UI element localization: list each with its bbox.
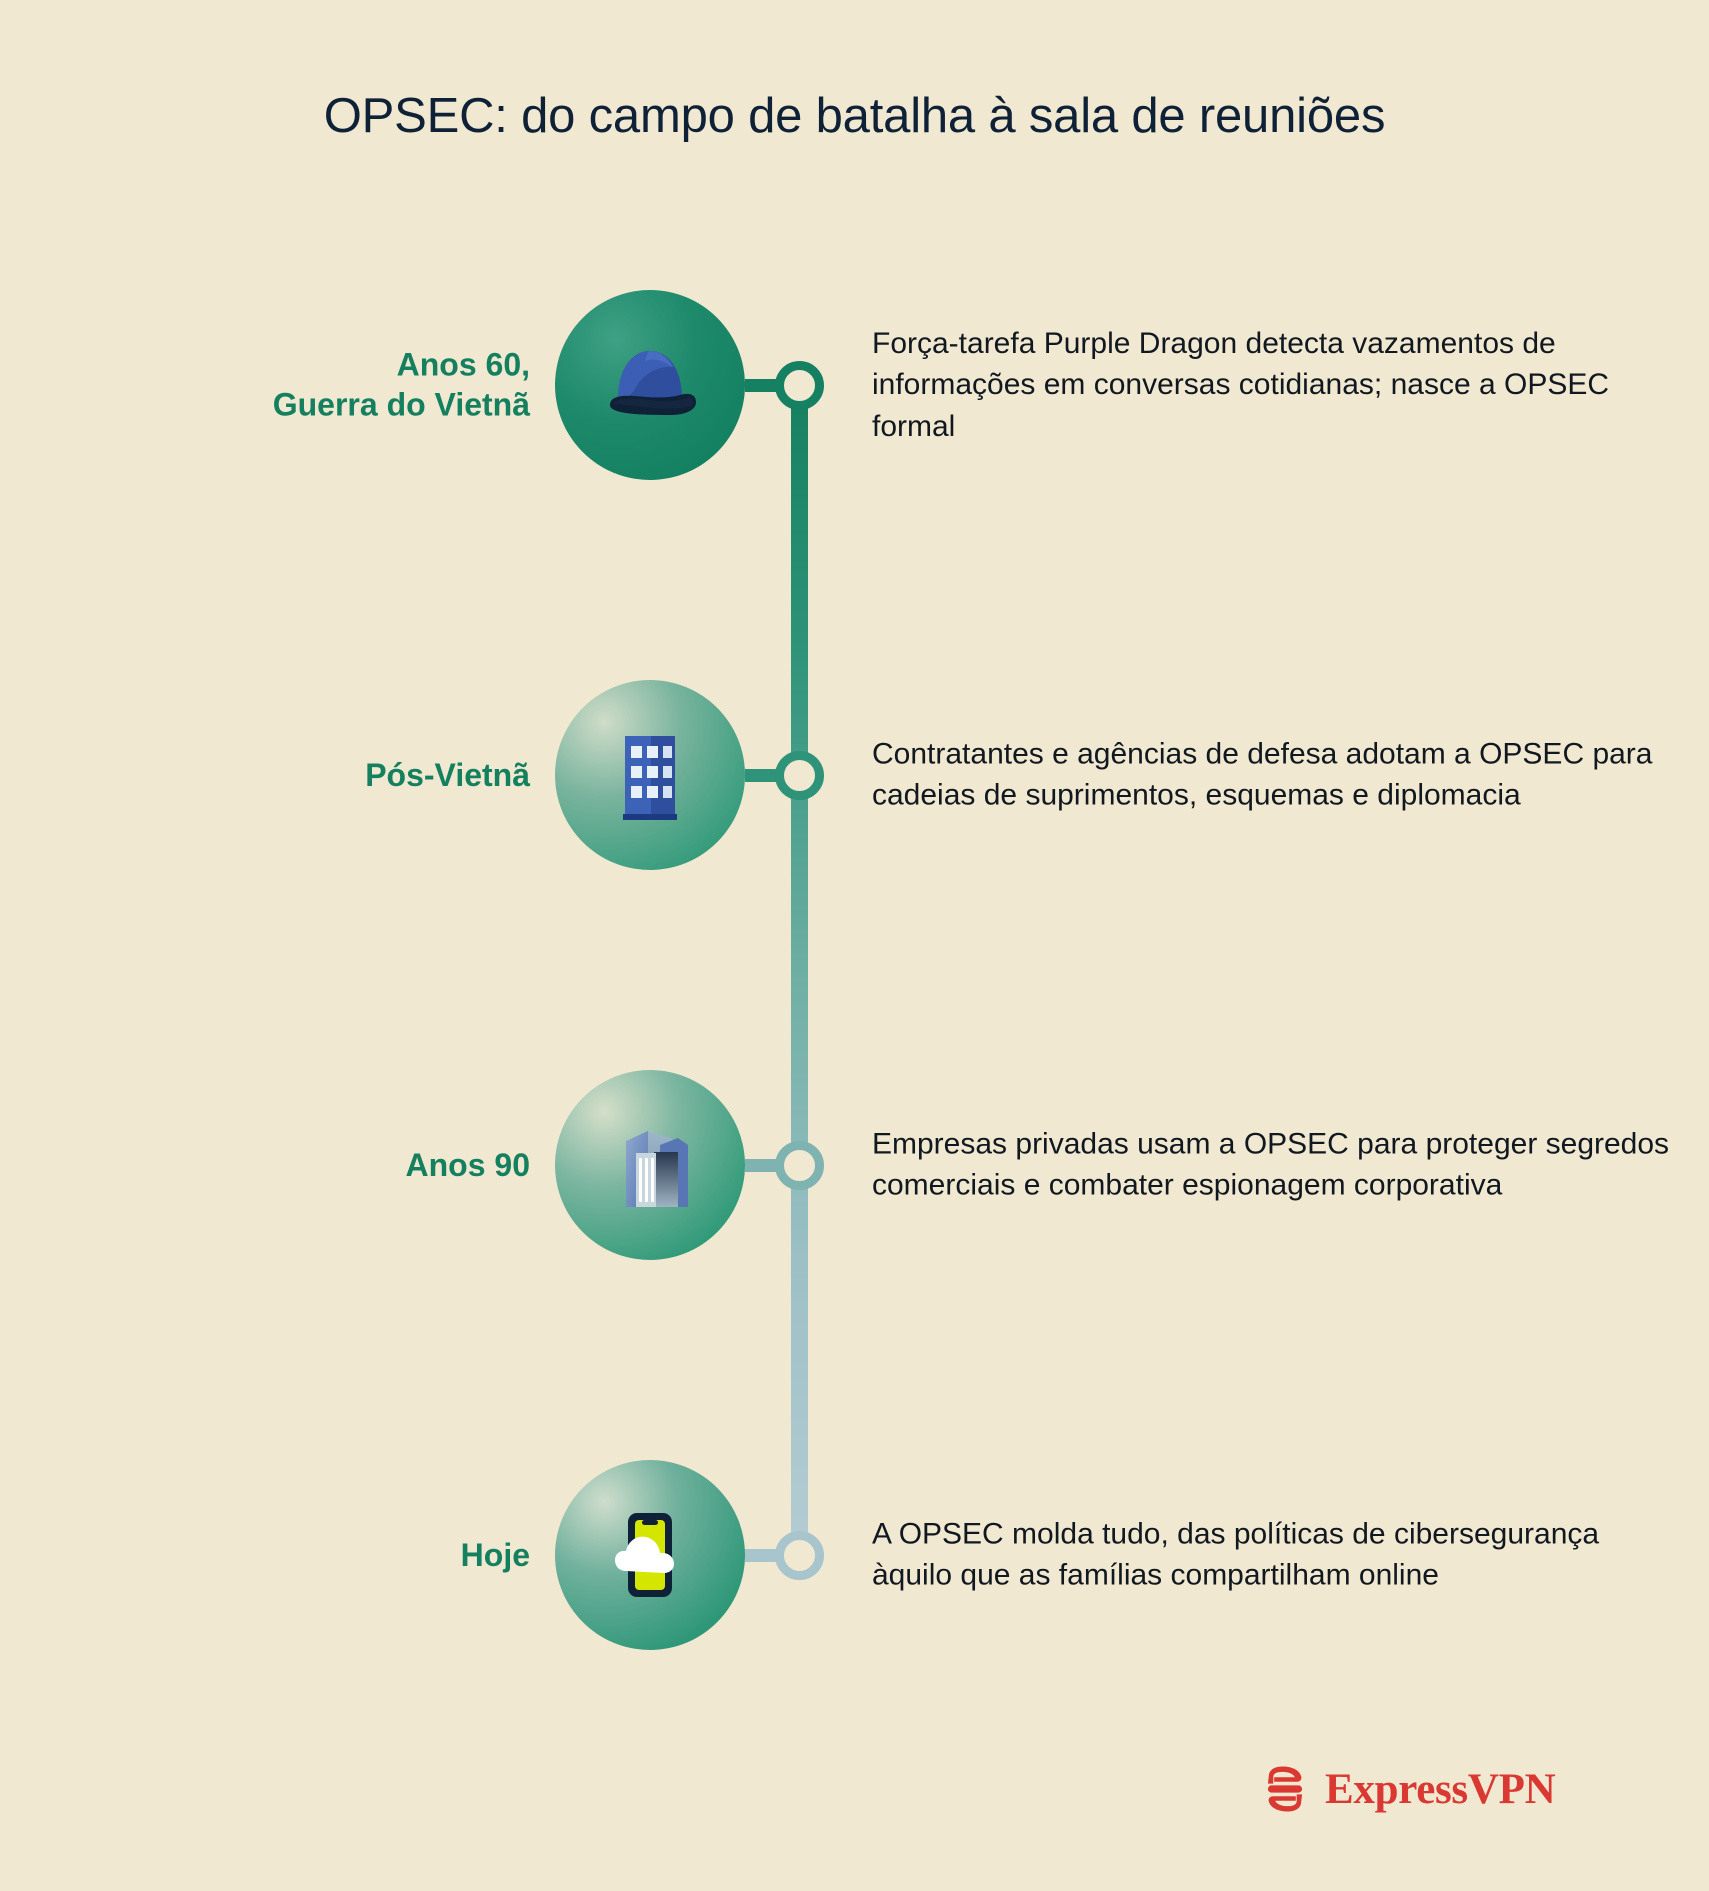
skyscrapers-icon (590, 1105, 710, 1225)
timeline-node (775, 1531, 824, 1580)
timeline-spine (791, 390, 808, 1570)
timeline-item-badge (555, 1070, 745, 1260)
expressvpn-logo-icon (1258, 1762, 1312, 1816)
timeline-node (775, 751, 824, 800)
timeline-item-label: Anos 60, Guerra do Vietnã (60, 345, 530, 426)
office-building-icon (595, 720, 705, 830)
page-title: OPSEC: do campo de batalha à sala de reu… (0, 88, 1709, 144)
timeline-item-label-line1: Hoje (461, 1537, 530, 1573)
timeline-item-description: Contratantes e agências de defesa adotam… (872, 734, 1672, 817)
timeline-row: Anos 60, Guerra do Vietnã Força-tarefa P… (0, 275, 1709, 495)
timeline-item-label: Anos 90 (60, 1145, 530, 1185)
infographic-page: OPSEC: do campo de batalha à sala de reu… (0, 0, 1709, 1891)
timeline-item-label: Hoje (60, 1535, 530, 1575)
timeline-item-badge (555, 290, 745, 480)
timeline-node (775, 361, 824, 410)
timeline-item-label-line1: Anos 60, (397, 347, 530, 383)
expressvpn-logo-text: ExpressVPN (1325, 1765, 1555, 1814)
timeline-item-badge (555, 680, 745, 870)
timeline-node (775, 1141, 824, 1190)
timeline-item-description: Empresas privadas usam a OPSEC para prot… (872, 1124, 1672, 1207)
phone-cloud-icon (590, 1495, 710, 1615)
timeline-item-description: A OPSEC molda tudo, das políticas de cib… (872, 1514, 1672, 1597)
timeline-item-label-line2: Guerra do Vietnã (273, 387, 530, 423)
timeline-item-label-line1: Anos 90 (406, 1147, 530, 1183)
timeline-row: Anos 90 (0, 1055, 1709, 1275)
timeline-item-badge (555, 1460, 745, 1650)
expressvpn-logo: ExpressVPN (1258, 1762, 1555, 1816)
timeline-item-label: Pós-Vietnã (60, 755, 530, 795)
timeline-row: Hoje A OPSEC molda tudo, das políticas d… (0, 1445, 1709, 1665)
timeline-item-description: Força-tarefa Purple Dragon detecta vazam… (872, 323, 1672, 447)
bucket-hat-icon (590, 325, 710, 445)
timeline-row: Pós-Vietnã Contratantes e agências de de… (0, 665, 1709, 885)
timeline-item-label-line1: Pós-Vietnã (365, 757, 530, 793)
